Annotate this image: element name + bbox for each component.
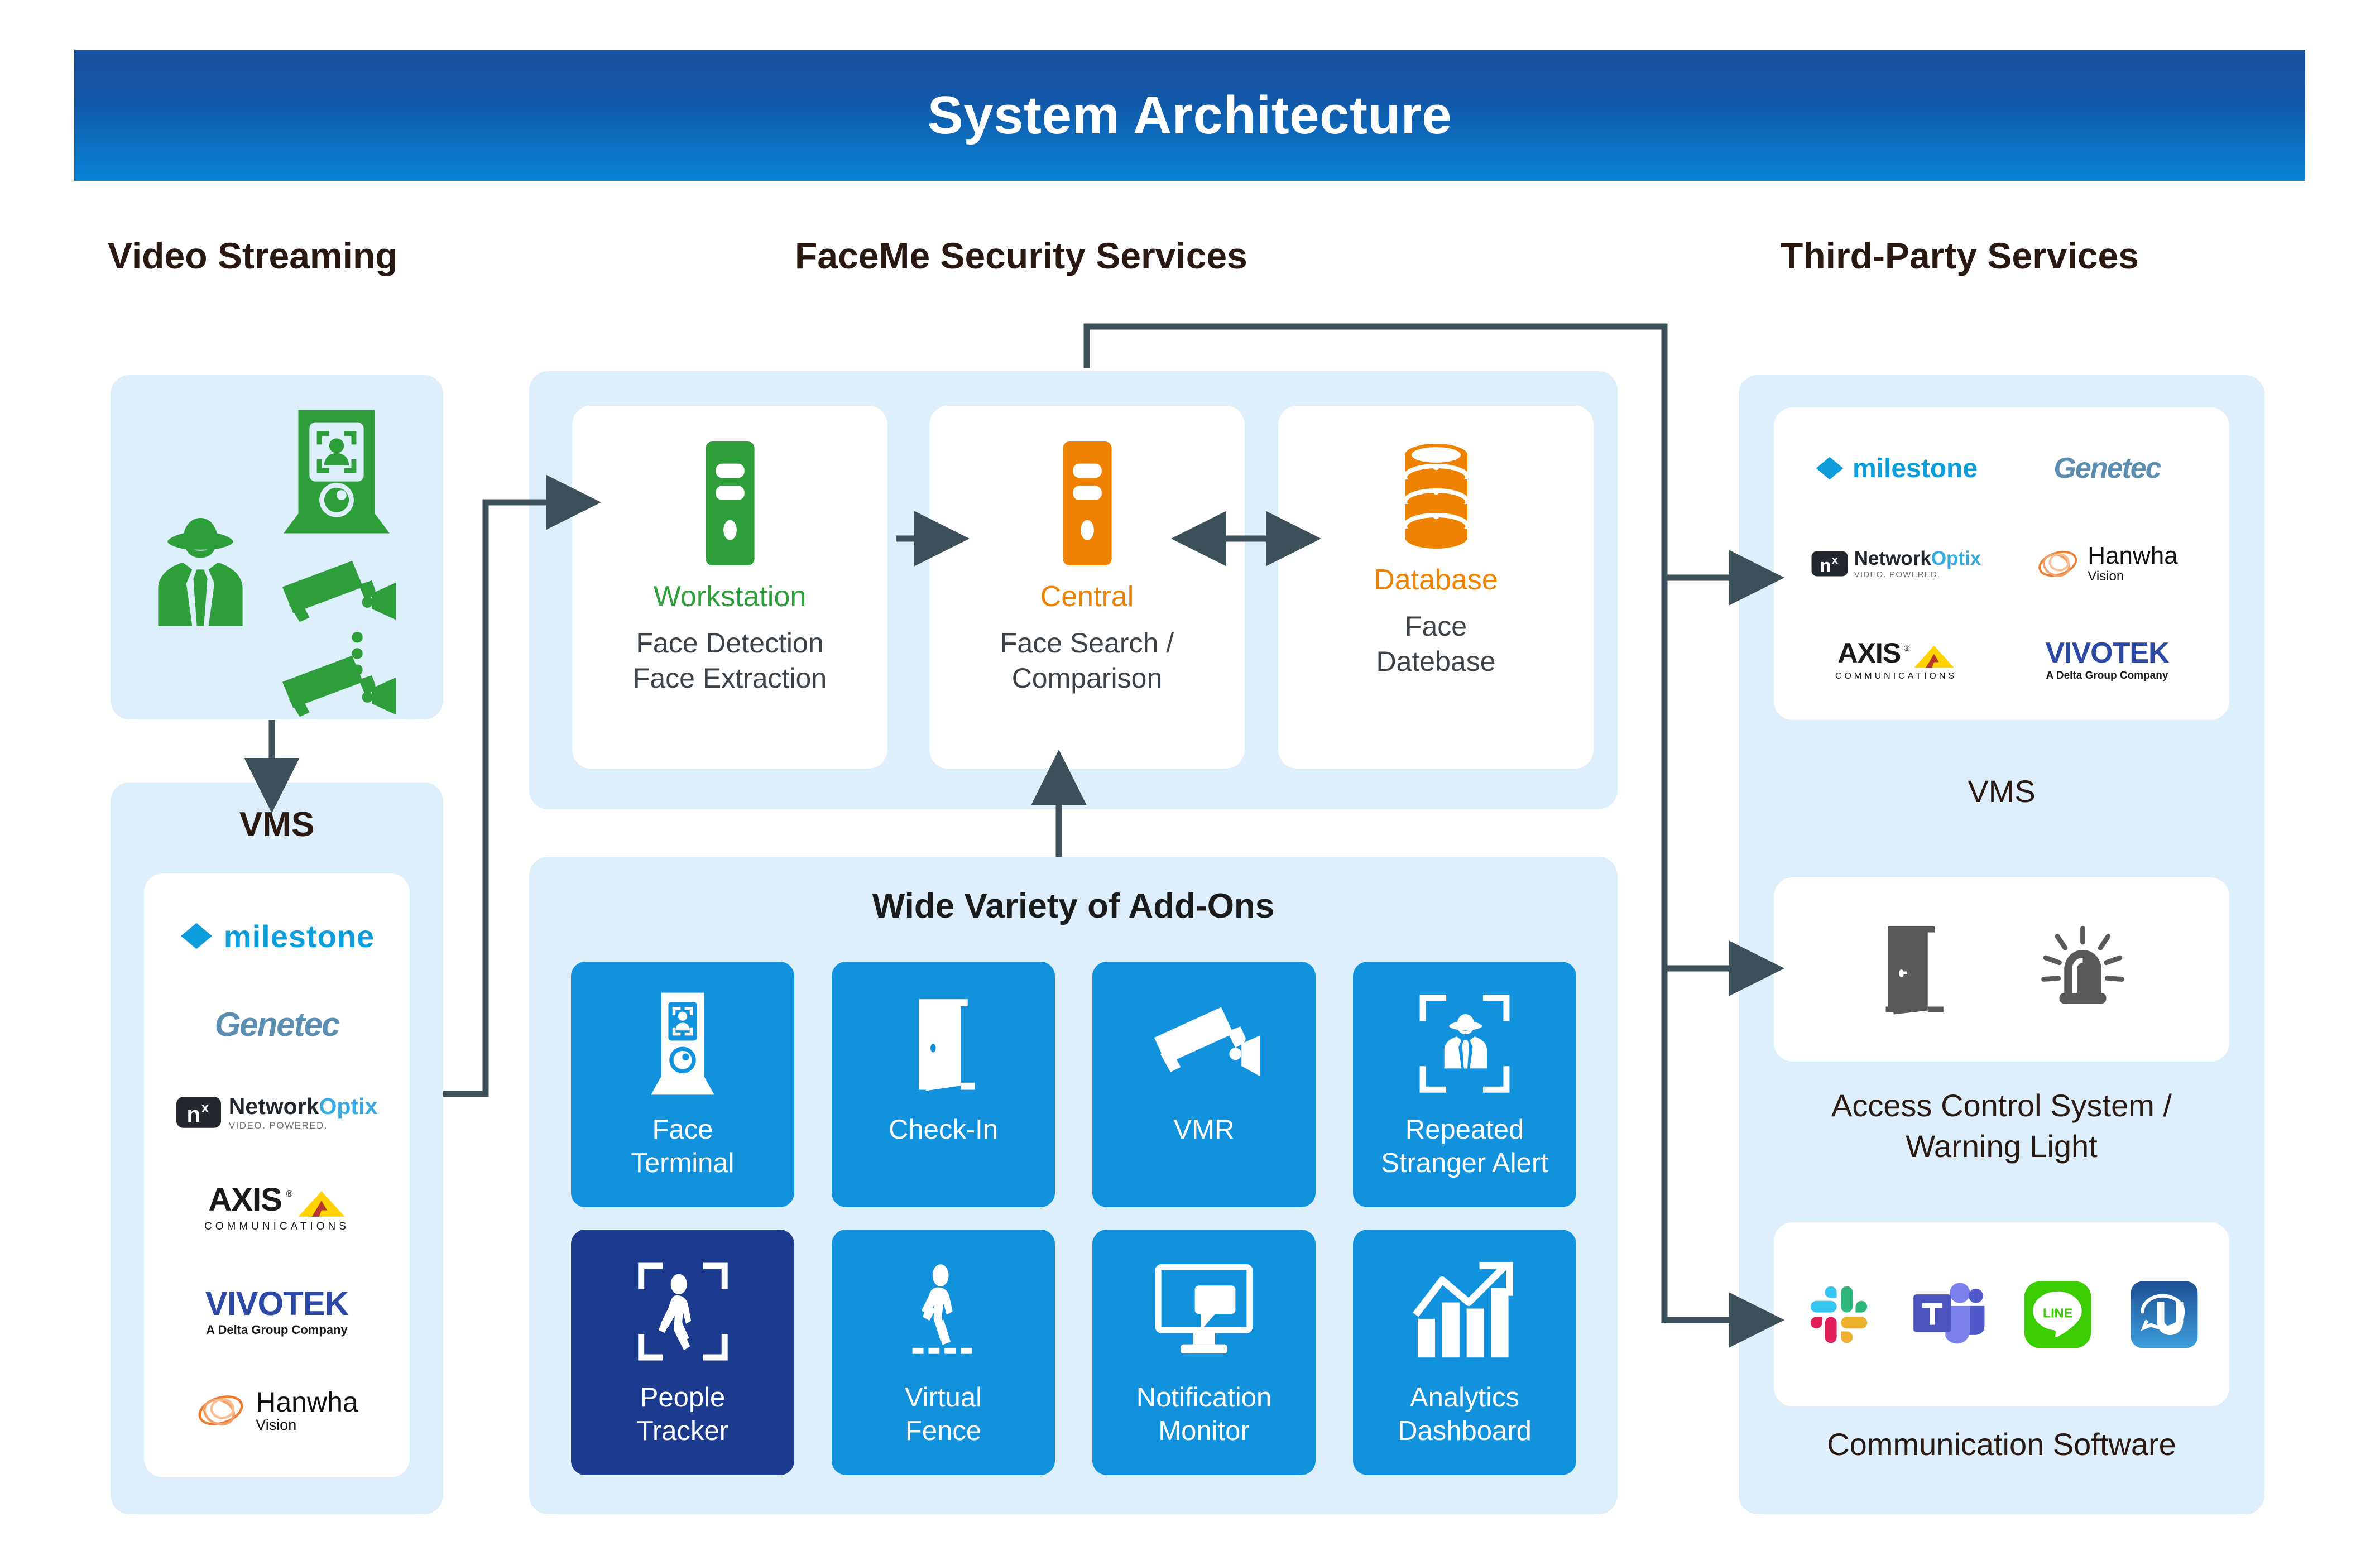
core-title-workstation: Workstation [654, 580, 807, 613]
bar-chart-trend-icon [1412, 1253, 1518, 1370]
svg-text:n: n [186, 1102, 200, 1127]
server-tower-green-icon [697, 439, 764, 568]
addon-face-terminal[interactable]: Face Terminal [571, 962, 794, 1207]
third-party-vms-card: milestone Genetec n x NetworkOptix VIDEO… [1774, 407, 2229, 720]
logo-tagline-axis: COMMUNICATIONS [1835, 671, 1957, 681]
logo-axis: AXIS ® COMMUNICATIONS [1835, 637, 1957, 681]
addon-label: Notification Monitor [1133, 1381, 1275, 1448]
u-chat-icon [2129, 1280, 2199, 1350]
logo-genetec: Genetec [2053, 452, 2160, 485]
core-card-workstation[interactable]: Workstation Face Detection Face Extracti… [572, 406, 887, 769]
communication-software-card: LINE [1774, 1222, 2229, 1406]
column-heading-video-streaming: Video Streaming [108, 234, 398, 277]
addon-label-line: People [637, 1381, 728, 1415]
logo-text-genetec: Genetec [2053, 452, 2160, 485]
vms-label-left: VMS [111, 805, 443, 844]
addon-label-line: Check-In [889, 1113, 998, 1147]
core-sub-line: Face Search / [1000, 626, 1174, 661]
logo-vivotek: VIVOTEK A Delta Group Company [205, 1284, 348, 1337]
core-card-database[interactable]: Database Face Datebase [1278, 406, 1594, 769]
axis-triangle-icon [297, 1189, 346, 1218]
addon-label-line: Virtual [905, 1381, 982, 1415]
core-title-central: Central [1040, 580, 1134, 613]
registered-mark-icon: ® [286, 1189, 293, 1199]
svg-text:n: n [1820, 555, 1831, 575]
core-sub-line: Face [1376, 609, 1495, 644]
svg-text:LINE: LINE [2043, 1305, 2072, 1320]
communication-software-label: Communication Software [1739, 1426, 2264, 1462]
third-party-vms-grid: milestone Genetec n x NetworkOptix VIDEO… [1774, 407, 2229, 720]
page-title: System Architecture [928, 85, 1452, 146]
person-in-hat-icon [142, 503, 259, 626]
addon-label: Analytics Dashboard [1394, 1381, 1535, 1448]
logo-networkoptix: n x NetworkOptix VIDEO. POWERED. [176, 1095, 378, 1130]
cctv-camera-icon [278, 554, 398, 629]
nx-badge-icon: n x [1811, 550, 1848, 578]
stranger-detect-icon [1414, 985, 1515, 1102]
logo-milestone: milestone [179, 918, 375, 954]
logo-vivotek: VIVOTEK A Delta Group Company [2045, 636, 2168, 682]
cctv-camera-icon [1148, 985, 1260, 1102]
core-sub-line: Face Extraction [633, 661, 827, 696]
person-tracking-icon [634, 1253, 732, 1370]
addon-virtual-fence[interactable]: Virtual Fence [832, 1230, 1055, 1475]
core-sub-workstation: Face Detection Face Extraction [633, 626, 827, 695]
svg-text:x: x [201, 1101, 209, 1116]
logo-text-hanwha: Hanwha [2088, 544, 2177, 568]
addon-notification-monitor[interactable]: Notification Monitor [1092, 1230, 1316, 1475]
addon-vmr[interactable]: VMR [1092, 962, 1316, 1207]
face-terminal-icon [649, 985, 717, 1102]
access-label-line: Access Control System / [1739, 1086, 2264, 1126]
addon-label-line: Analytics [1398, 1381, 1532, 1415]
header-banner: System Architecture [74, 50, 2305, 181]
addon-analytics-dashboard[interactable]: Analytics Dashboard [1353, 1230, 1576, 1475]
milestone-diamond-icon [1815, 453, 1845, 483]
siren-light-icon [2034, 922, 2132, 1017]
addon-label: People Tracker [634, 1381, 732, 1448]
logo-text-hanwha: Hanwha [256, 1388, 358, 1416]
logo-text-milestone: milestone [1853, 453, 1978, 484]
logo-tagline-vivotek: A Delta Group Company [206, 1323, 347, 1337]
addon-label-line: Stranger Alert [1381, 1147, 1548, 1180]
core-sub-central: Face Search / Comparison [1000, 626, 1174, 695]
core-sub-line: Datebase [1376, 644, 1495, 679]
addon-repeated-stranger-alert[interactable]: Repeated Stranger Alert [1353, 962, 1576, 1207]
line-icon: LINE [2023, 1280, 2093, 1350]
logo-text-axis: AXIS [1837, 637, 1901, 669]
addon-label-line: Tracker [637, 1415, 728, 1448]
addon-label-line: Terminal [631, 1147, 734, 1180]
addon-label-line: Notification [1136, 1381, 1271, 1415]
column-heading-faceme: FaceMe Security Services [795, 234, 1247, 277]
registered-mark-icon: ® [1904, 644, 1909, 652]
core-title-database: Database [1374, 563, 1498, 597]
vms-logo-card-left: milestone Genetec n x NetworkOptix VIDEO… [144, 873, 410, 1477]
logo-text-vivotek: VIVOTEK [2045, 636, 2168, 670]
hanwha-rings-icon [195, 1390, 248, 1430]
logo-networkoptix: n x NetworkOptix VIDEO. POWERED. [1811, 549, 1981, 579]
logo-text-milestone: milestone [224, 918, 375, 954]
logo-text-genetec: Genetec [215, 1005, 339, 1044]
logo-text-vivotek: VIVOTEK [205, 1284, 348, 1323]
nx-badge-icon: n x [176, 1095, 221, 1130]
core-sub-line: Comparison [1000, 661, 1174, 696]
cctv-camera-icon [278, 649, 398, 724]
logo-axis: AXIS ® COMMUNICATIONS [204, 1181, 349, 1233]
addon-label-line: Dashboard [1398, 1415, 1532, 1448]
addon-label-line: Face [631, 1113, 734, 1147]
core-sub-line: Face Detection [633, 626, 827, 661]
hanwha-rings-icon [2036, 546, 2081, 581]
logo-text-networkoptix: NetworkOptix [1854, 549, 1981, 568]
addon-label-line: Fence [905, 1415, 982, 1448]
svg-text:x: x [1831, 554, 1837, 567]
addon-label: Face Terminal [627, 1113, 737, 1180]
person-crossing-icon [900, 1253, 987, 1370]
addons-grid: Face Terminal Check-In [571, 962, 1576, 1475]
logo-genetec: Genetec [215, 1005, 339, 1044]
core-sub-database: Face Datebase [1376, 609, 1495, 679]
database-cylinder-icon [1391, 439, 1481, 551]
core-card-central[interactable]: Central Face Search / Comparison [929, 406, 1245, 769]
logo-tagline-networkoptix: VIDEO. POWERED. [1854, 570, 1981, 579]
addon-label-line: VMR [1174, 1113, 1235, 1147]
access-control-card [1774, 877, 2229, 1062]
addon-label-line: Monitor [1136, 1415, 1271, 1448]
logo-text-networkoptix: NetworkOptix [229, 1095, 378, 1118]
diagram-canvas: System Architecture Video Streaming Face… [0, 0, 2380, 1565]
face-terminal-icon [284, 407, 390, 536]
server-tower-orange-icon [1054, 439, 1121, 568]
addon-label: VMR [1170, 1113, 1238, 1147]
logo-tagline-axis: COMMUNICATIONS [204, 1221, 349, 1233]
logo-milestone: milestone [1815, 453, 1978, 484]
addon-check-in[interactable]: Check-In [832, 962, 1055, 1207]
slack-icon [1804, 1280, 1874, 1350]
addon-label-line: Repeated [1381, 1113, 1548, 1147]
video-source-panel [111, 375, 443, 719]
addon-label: Virtual Fence [901, 1381, 985, 1448]
open-door-icon [901, 985, 985, 1102]
logo-text-axis: AXIS [208, 1181, 281, 1218]
access-label-line: Warning Light [1739, 1126, 2264, 1167]
third-party-vms-label: VMS [1739, 773, 2264, 809]
milestone-diamond-icon [179, 919, 214, 953]
microsoft-teams-icon [1911, 1280, 1986, 1350]
addon-label: Check-In [885, 1113, 1001, 1147]
axis-triangle-icon [1913, 644, 1955, 669]
column-heading-third-party: Third-Party Services [1781, 234, 2139, 277]
addons-title: Wide Variety of Add-Ons [529, 886, 1618, 926]
addon-label: Repeated Stranger Alert [1378, 1113, 1552, 1180]
addon-people-tracker[interactable]: People Tracker [571, 1230, 794, 1475]
access-control-label: Access Control System / Warning Light [1739, 1086, 2264, 1167]
monitor-alert-icon [1148, 1253, 1260, 1370]
logo-tagline-hanwha: Vision [256, 1418, 358, 1433]
logo-tagline-networkoptix: VIDEO. POWERED. [229, 1121, 378, 1130]
logo-tagline-hanwha: Vision [2088, 570, 2177, 583]
logo-tagline-vivotek: A Delta Group Company [2046, 670, 2168, 682]
logo-hanwha: Hanwha Vision [2036, 544, 2177, 583]
open-door-icon [1872, 922, 1950, 1017]
logo-hanwha: Hanwha Vision [195, 1388, 358, 1433]
